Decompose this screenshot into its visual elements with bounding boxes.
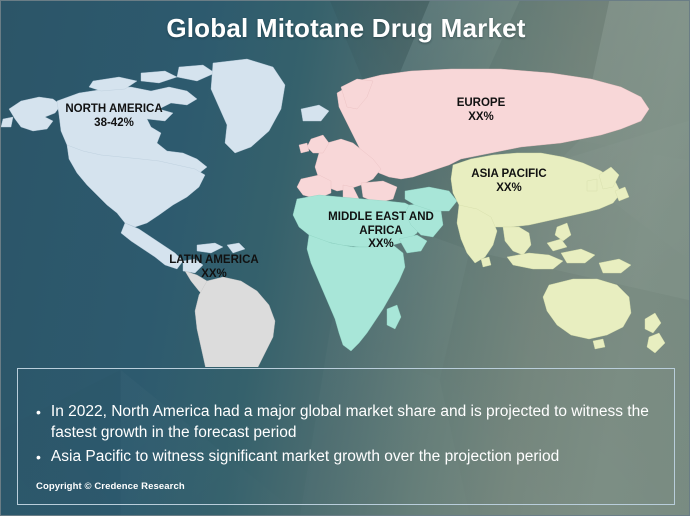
region-label-value: 38-42%: [49, 117, 179, 131]
map-region-north-america: [1, 59, 329, 273]
region-label-north-america: NORTH AMERICA 38-42%: [49, 103, 179, 130]
region-label-line2: AFRICA: [311, 225, 451, 239]
list-item: • In 2022, North America had a major glo…: [36, 402, 660, 444]
bullet-text: In 2022, North America had a major globa…: [51, 402, 660, 444]
region-label-line1: ASIA PACIFIC: [449, 168, 569, 182]
region-label-latin-america: LATIN AMERICA XX%: [149, 254, 279, 281]
region-label-value: XX%: [149, 268, 279, 282]
bullet-marker-icon: •: [36, 402, 41, 444]
world-map: [1, 47, 690, 367]
region-label-europe: EUROPE XX%: [426, 97, 536, 124]
region-label-asia-pacific: ASIA PACIFIC XX%: [449, 168, 569, 195]
bullet-text: Asia Pacific to witness significant mark…: [51, 447, 660, 468]
region-label-value: XX%: [449, 182, 569, 196]
page-title: Global Mitotane Drug Market: [1, 13, 690, 44]
insights-bullet-list: • In 2022, North America had a major glo…: [36, 402, 660, 471]
infographic-slide: Global Mitotane Drug Market: [0, 0, 690, 516]
list-item: • Asia Pacific to witness significant ma…: [36, 447, 660, 468]
region-label-value: XX%: [426, 111, 536, 125]
copyright-notice: Copyright © Credence Research: [36, 481, 185, 492]
region-label-value: XX%: [311, 238, 451, 252]
region-label-line1: EUROPE: [426, 97, 536, 111]
region-label-middle-east-africa: MIDDLE EAST AND AFRICA XX%: [311, 211, 451, 252]
insights-callout-box: • In 2022, North America had a major glo…: [17, 368, 675, 505]
map-region-latin-america: [185, 271, 275, 367]
region-label-line1: MIDDLE EAST AND: [311, 211, 451, 225]
bullet-marker-icon: •: [36, 447, 41, 468]
region-label-line1: LATIN AMERICA: [149, 254, 279, 268]
region-label-line1: NORTH AMERICA: [49, 103, 179, 117]
